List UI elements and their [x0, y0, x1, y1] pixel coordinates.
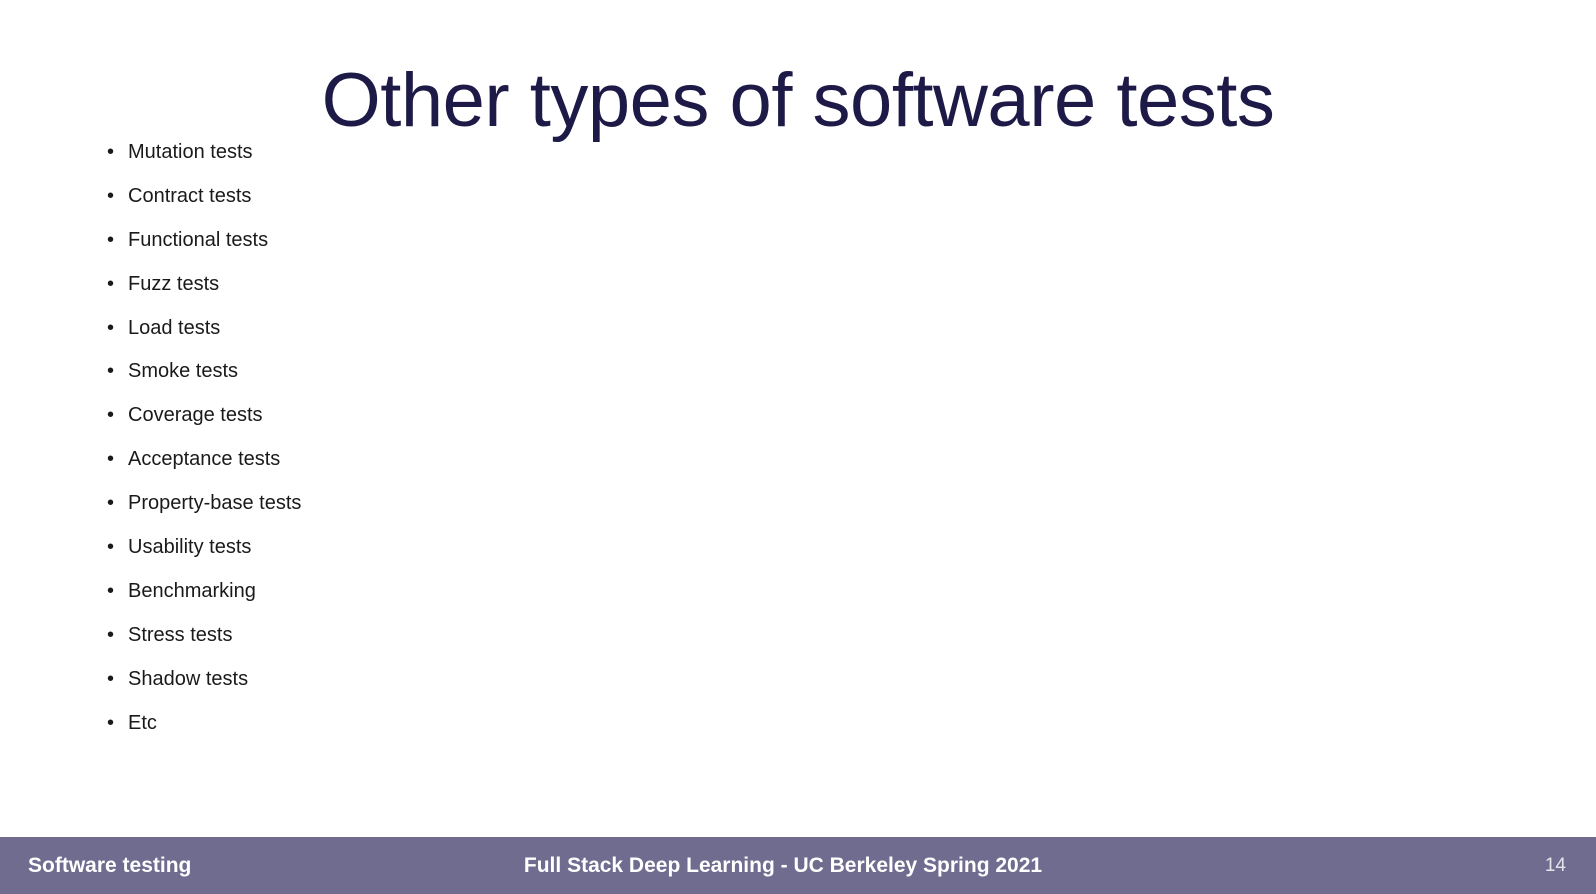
- list-item-label: Coverage tests: [128, 403, 263, 427]
- list-item-label: Shadow tests: [128, 667, 248, 691]
- list-item-label: Load tests: [128, 316, 220, 340]
- list-item: • Coverage tests: [107, 403, 301, 447]
- list-item: • Etc: [107, 711, 301, 755]
- bullet-dot-icon: •: [107, 535, 128, 559]
- list-item-label: Etc: [128, 711, 157, 735]
- slide-footer: Software testing Full Stack Deep Learnin…: [0, 837, 1596, 894]
- bullet-dot-icon: •: [107, 623, 128, 647]
- list-item-label: Smoke tests: [128, 359, 238, 383]
- list-item-label: Mutation tests: [128, 140, 253, 164]
- list-item-label: Functional tests: [128, 228, 268, 252]
- bullet-dot-icon: •: [107, 228, 128, 252]
- list-item-label: Benchmarking: [128, 579, 256, 603]
- list-item-label: Fuzz tests: [128, 272, 219, 296]
- bullet-dot-icon: •: [107, 403, 128, 427]
- bullet-dot-icon: •: [107, 447, 128, 471]
- footer-page-number: 14: [1545, 837, 1566, 894]
- list-item: • Contract tests: [107, 184, 301, 228]
- list-item-label: Acceptance tests: [128, 447, 280, 471]
- list-item: • Mutation tests: [107, 140, 301, 184]
- footer-section-label: Software testing: [28, 837, 191, 894]
- list-item: • Acceptance tests: [107, 447, 301, 491]
- bullet-dot-icon: •: [107, 579, 128, 603]
- bullet-dot-icon: •: [107, 316, 128, 340]
- list-item-label: Usability tests: [128, 535, 251, 559]
- slide: Other types of software tests • Mutation…: [0, 0, 1596, 894]
- list-item-label: Property-base tests: [128, 491, 301, 515]
- list-item: • Fuzz tests: [107, 272, 301, 316]
- bullet-dot-icon: •: [107, 711, 128, 735]
- list-item: • Load tests: [107, 316, 301, 360]
- list-item: • Benchmarking: [107, 579, 301, 623]
- bullet-dot-icon: •: [107, 184, 128, 208]
- test-types-list: • Mutation tests • Contract tests • Func…: [107, 140, 301, 754]
- list-item-label: Contract tests: [128, 184, 251, 208]
- bullet-dot-icon: •: [107, 140, 128, 164]
- bullet-dot-icon: •: [107, 491, 128, 515]
- list-item: • Smoke tests: [107, 359, 301, 403]
- list-item: • Property-base tests: [107, 491, 301, 535]
- page-title: Other types of software tests: [0, 53, 1596, 149]
- bullet-dot-icon: •: [107, 272, 128, 296]
- list-item-label: Stress tests: [128, 623, 232, 647]
- list-item: • Shadow tests: [107, 667, 301, 711]
- footer-course-label: Full Stack Deep Learning - UC Berkeley S…: [0, 837, 1566, 894]
- list-item: • Stress tests: [107, 623, 301, 667]
- bullet-dot-icon: •: [107, 667, 128, 691]
- bullet-dot-icon: •: [107, 359, 128, 383]
- list-item: • Usability tests: [107, 535, 301, 579]
- list-item: • Functional tests: [107, 228, 301, 272]
